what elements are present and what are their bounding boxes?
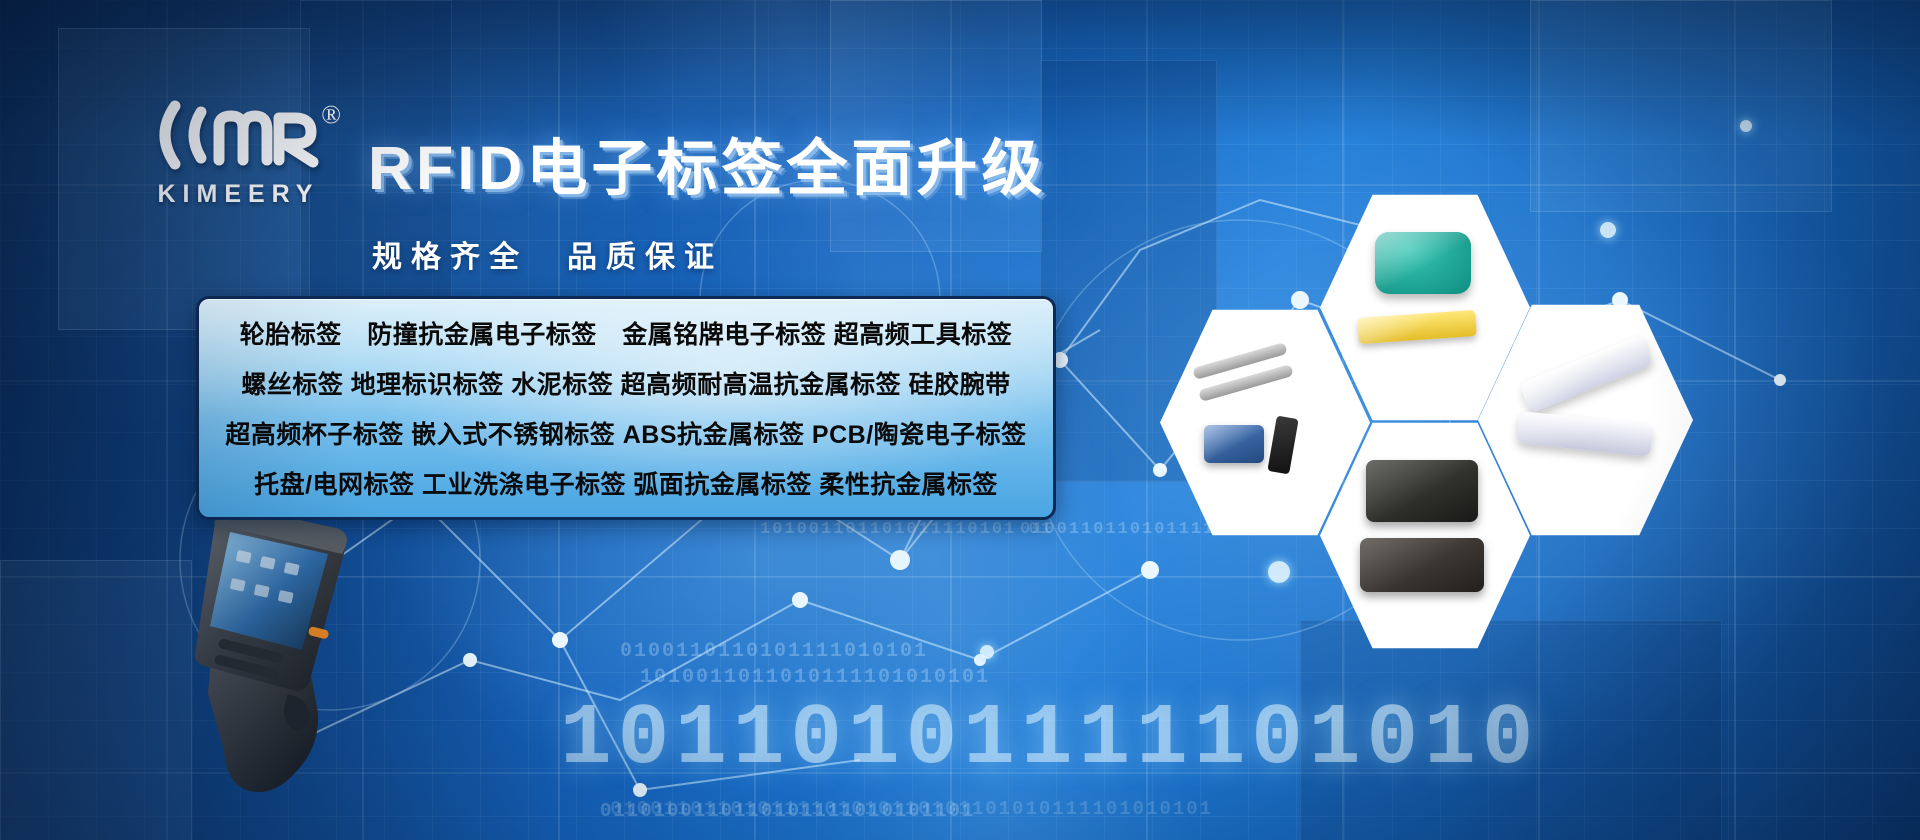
binary-large-text: 10110101111101010 <box>560 690 1539 788</box>
binary-line-4: 1010011011010111101010101 <box>640 666 990 689</box>
kimeery-wave-mark-icon: ® <box>145 96 325 174</box>
binary-line-6: 0100110110101111010101101011010101111010… <box>610 798 1213 820</box>
black-abs-tag <box>1366 460 1478 522</box>
teal-round-tag <box>1375 232 1471 294</box>
glow-dot-4 <box>980 645 994 659</box>
binary-line-2: 101001101101011110101 01 <box>760 520 1053 539</box>
white-flex-tag-2 <box>1517 411 1654 457</box>
brand-logo: ® KIMEERY <box>145 96 325 209</box>
page-title: RFID电子标签全面升级 <box>368 118 1046 207</box>
handheld-rfid-reader <box>168 498 398 808</box>
brand-name: KIMEERY <box>145 180 325 209</box>
black-bar-tag <box>1267 416 1298 475</box>
dark-ceramic-tag <box>1360 538 1484 592</box>
product-list-row: 托盘/电网标签 工业洗涤电子标签 弧面抗金属标签 柔性抗金属标签 <box>199 460 1053 510</box>
white-flex-tag-1 <box>1519 334 1653 413</box>
glow-dot-3 <box>1740 120 1752 132</box>
registered-trademark-icon: ® <box>321 102 341 128</box>
product-list-row: 超高频杯子标签 嵌入式不锈钢标签 ABS抗金属标签 PCB/陶瓷电子标签 <box>199 410 1053 460</box>
product-list-row: 轮胎标签 防撞抗金属电子标签 金属铭牌电子标签 超高频工具标签 <box>199 310 1053 360</box>
rfid-promo-banner: 0100110110101111010101 10100110110101111… <box>0 0 1920 840</box>
product-hex-cluster <box>1160 190 1780 610</box>
blue-block-tag <box>1204 425 1264 463</box>
product-list-row: 螺丝标签 地理标识标签 水泥标签 超高频耐高温抗金属标签 硅胶腕带 <box>199 360 1053 410</box>
yellow-strip-tag <box>1357 310 1477 344</box>
page-subtitle: 规格齐全 品质保证 <box>372 232 723 276</box>
product-list-panel: 轮胎标签 防撞抗金属电子标签 金属铭牌电子标签 超高频工具标签 螺丝标签 地理标… <box>196 296 1056 520</box>
binary-line-1: 0100110110101111010101 <box>620 640 928 663</box>
